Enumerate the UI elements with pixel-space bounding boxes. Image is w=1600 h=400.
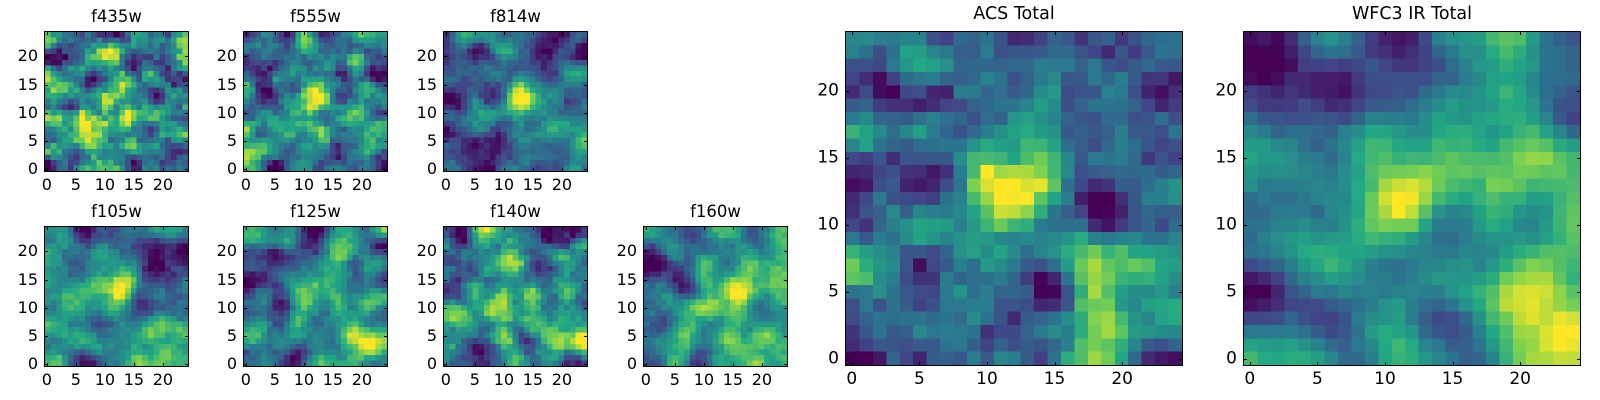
heatmap-canvas-f435w bbox=[45, 32, 188, 171]
ytick-f125w-1 bbox=[243, 336, 247, 337]
xticklabel-f140w-1: 5 bbox=[470, 372, 480, 388]
ytick-right-f105w-3 bbox=[185, 280, 189, 281]
panel-title-f555w: f555w bbox=[243, 9, 388, 26]
xtick-f105w-4 bbox=[163, 363, 164, 367]
panel-f105w: f105w0510152005101520 bbox=[44, 226, 189, 367]
xtick-acs-total-4 bbox=[1122, 362, 1123, 366]
ytick-f814w-2 bbox=[443, 113, 447, 114]
yticklabel-f435w-4: 20 bbox=[18, 48, 38, 64]
xtick-top-wfc3-ir-total-0 bbox=[1250, 31, 1251, 35]
ytick-f125w-0 bbox=[243, 364, 247, 365]
xticklabel-f555w-1: 5 bbox=[270, 177, 280, 193]
xticklabel-f140w-4: 20 bbox=[552, 372, 572, 388]
xticklabel-f555w-0: 0 bbox=[241, 177, 251, 193]
xticklabel-acs-total-0: 0 bbox=[846, 371, 857, 388]
ytick-right-wfc3-ir-total-4 bbox=[1577, 91, 1581, 92]
ytick-f160w-0 bbox=[643, 364, 647, 365]
panel-title-f160w: f160w bbox=[643, 204, 788, 221]
heatmap-image-f555w bbox=[243, 31, 388, 172]
xticklabel-f140w-3: 15 bbox=[523, 372, 543, 388]
ytick-right-wfc3-ir-total-0 bbox=[1577, 359, 1581, 360]
xticklabel-wfc3-ir-total-1: 5 bbox=[1312, 371, 1323, 388]
xtick-wfc3-ir-total-4 bbox=[1520, 362, 1521, 366]
ytick-wfc3-ir-total-4 bbox=[1243, 91, 1247, 92]
ytick-f555w-0 bbox=[243, 169, 247, 170]
xticklabel-f160w-1: 5 bbox=[670, 372, 680, 388]
xtick-top-f105w-1 bbox=[76, 226, 77, 230]
ytick-right-f814w-0 bbox=[584, 169, 588, 170]
yticklabel-f160w-4: 20 bbox=[617, 243, 637, 259]
xticklabel-f160w-2: 10 bbox=[694, 372, 714, 388]
yticklabel-f814w-0: 0 bbox=[427, 161, 437, 177]
panel-title-f125w: f125w bbox=[243, 204, 388, 221]
xtick-top-f125w-1 bbox=[275, 226, 276, 230]
xtick-f140w-2 bbox=[504, 363, 505, 367]
yticklabel-f125w-1: 5 bbox=[227, 328, 237, 344]
xtick-top-wfc3-ir-total-3 bbox=[1453, 31, 1454, 35]
ytick-right-f125w-4 bbox=[384, 251, 388, 252]
yticklabel-f105w-0: 0 bbox=[28, 356, 38, 372]
panel-f140w: f140w0510152005101520 bbox=[443, 226, 588, 367]
panel-title-acs-total: ACS Total bbox=[845, 6, 1183, 24]
ytick-f140w-1 bbox=[443, 336, 447, 337]
xticklabel-f555w-3: 15 bbox=[323, 177, 343, 193]
ytick-right-f555w-4 bbox=[384, 56, 388, 57]
yticklabel-acs-total-2: 10 bbox=[817, 217, 839, 234]
ytick-right-f140w-4 bbox=[584, 251, 588, 252]
ytick-right-acs-total-4 bbox=[1179, 91, 1183, 92]
ytick-f140w-4 bbox=[443, 251, 447, 252]
ytick-right-f105w-1 bbox=[185, 336, 189, 337]
ytick-f125w-3 bbox=[243, 280, 247, 281]
xtick-f160w-4 bbox=[762, 363, 763, 367]
yticklabel-f435w-2: 10 bbox=[18, 105, 38, 121]
xtick-top-f140w-0 bbox=[446, 226, 447, 230]
ytick-right-f814w-2 bbox=[584, 113, 588, 114]
xtick-top-f814w-3 bbox=[533, 31, 534, 35]
xtick-acs-total-0 bbox=[852, 362, 853, 366]
ytick-f814w-1 bbox=[443, 141, 447, 142]
figure-canvas: f435w0510152005101520f555w05101520051015… bbox=[0, 0, 1600, 400]
ytick-wfc3-ir-total-3 bbox=[1243, 158, 1247, 159]
ytick-f105w-4 bbox=[44, 251, 48, 252]
heatmap-canvas-f105w bbox=[45, 227, 188, 366]
xtick-top-wfc3-ir-total-2 bbox=[1385, 31, 1386, 35]
xtick-top-f160w-3 bbox=[733, 226, 734, 230]
xticklabel-f105w-4: 20 bbox=[153, 372, 173, 388]
xticklabel-f125w-0: 0 bbox=[241, 372, 251, 388]
heatmap-image-f125w bbox=[243, 226, 388, 367]
ytick-wfc3-ir-total-1 bbox=[1243, 292, 1247, 293]
xtick-f555w-1 bbox=[275, 168, 276, 172]
heatmap-canvas-f160w bbox=[644, 227, 787, 366]
ytick-right-wfc3-ir-total-2 bbox=[1577, 225, 1581, 226]
ytick-right-f125w-0 bbox=[384, 364, 388, 365]
heatmap-canvas-f125w bbox=[244, 227, 387, 366]
ytick-right-f105w-4 bbox=[185, 251, 189, 252]
xtick-top-f105w-4 bbox=[163, 226, 164, 230]
ytick-right-wfc3-ir-total-1 bbox=[1577, 292, 1581, 293]
ytick-right-f814w-3 bbox=[584, 85, 588, 86]
yticklabel-f435w-0: 0 bbox=[28, 161, 38, 177]
xtick-f105w-3 bbox=[134, 363, 135, 367]
xtick-top-f555w-2 bbox=[304, 31, 305, 35]
ytick-right-f435w-0 bbox=[185, 169, 189, 170]
xticklabel-f435w-0: 0 bbox=[42, 177, 52, 193]
ytick-f555w-4 bbox=[243, 56, 247, 57]
xtick-top-acs-total-4 bbox=[1122, 31, 1123, 35]
xticklabel-f814w-1: 5 bbox=[470, 177, 480, 193]
xtick-top-f105w-2 bbox=[105, 226, 106, 230]
ytick-right-f160w-0 bbox=[784, 364, 788, 365]
ytick-right-f140w-1 bbox=[584, 336, 588, 337]
yticklabel-f105w-1: 5 bbox=[28, 328, 38, 344]
xticklabel-f140w-0: 0 bbox=[441, 372, 451, 388]
xtick-f140w-1 bbox=[475, 363, 476, 367]
yticklabel-wfc3-ir-total-1: 5 bbox=[1226, 284, 1237, 301]
xtick-f555w-3 bbox=[333, 168, 334, 172]
xtick-f125w-2 bbox=[304, 363, 305, 367]
heatmap-canvas-f814w bbox=[444, 32, 587, 171]
ytick-f435w-2 bbox=[44, 113, 48, 114]
heatmap-image-acs-total bbox=[845, 31, 1183, 366]
ytick-right-f160w-1 bbox=[784, 336, 788, 337]
ytick-right-f555w-2 bbox=[384, 113, 388, 114]
xticklabel-f105w-2: 10 bbox=[95, 372, 115, 388]
ytick-f105w-0 bbox=[44, 364, 48, 365]
ytick-acs-total-4 bbox=[845, 91, 849, 92]
xticklabel-f160w-4: 20 bbox=[752, 372, 772, 388]
xtick-top-wfc3-ir-total-4 bbox=[1520, 31, 1521, 35]
heatmap-image-f814w bbox=[443, 31, 588, 172]
heatmap-canvas-wfc3-ir-total bbox=[1244, 32, 1580, 365]
xticklabel-f435w-1: 5 bbox=[71, 177, 81, 193]
xtick-top-f140w-1 bbox=[475, 226, 476, 230]
panel-wfc3-ir-total: WFC3 IR Total0510152005101520 bbox=[1243, 31, 1581, 366]
ytick-f435w-0 bbox=[44, 169, 48, 170]
panel-acs-total: ACS Total0510152005101520 bbox=[845, 31, 1183, 366]
ytick-acs-total-0 bbox=[845, 359, 849, 360]
xtick-f105w-1 bbox=[76, 363, 77, 367]
xtick-wfc3-ir-total-0 bbox=[1250, 362, 1251, 366]
ytick-right-f814w-4 bbox=[584, 56, 588, 57]
yticklabel-f555w-2: 10 bbox=[217, 105, 237, 121]
yticklabel-wfc3-ir-total-3: 15 bbox=[1215, 150, 1237, 167]
xtick-top-f435w-3 bbox=[134, 31, 135, 35]
xticklabel-f125w-1: 5 bbox=[270, 372, 280, 388]
yticklabel-f555w-0: 0 bbox=[227, 161, 237, 177]
xtick-f814w-2 bbox=[504, 168, 505, 172]
xtick-wfc3-ir-total-3 bbox=[1453, 362, 1454, 366]
xtick-f555w-4 bbox=[362, 168, 363, 172]
xticklabel-f105w-3: 15 bbox=[124, 372, 144, 388]
xtick-top-acs-total-2 bbox=[987, 31, 988, 35]
heatmap-image-f140w bbox=[443, 226, 588, 367]
ytick-right-f555w-0 bbox=[384, 169, 388, 170]
yticklabel-f140w-3: 15 bbox=[417, 272, 437, 288]
ytick-right-wfc3-ir-total-3 bbox=[1577, 158, 1581, 159]
xtick-acs-total-3 bbox=[1055, 362, 1056, 366]
xticklabel-wfc3-ir-total-4: 20 bbox=[1509, 371, 1531, 388]
heatmap-canvas-f555w bbox=[244, 32, 387, 171]
xtick-f435w-4 bbox=[163, 168, 164, 172]
panel-f814w: f814w0510152005101520 bbox=[443, 31, 588, 172]
xtick-top-f160w-1 bbox=[675, 226, 676, 230]
xtick-top-f555w-3 bbox=[333, 31, 334, 35]
panel-f435w: f435w0510152005101520 bbox=[44, 31, 189, 172]
xtick-top-f160w-4 bbox=[762, 226, 763, 230]
xtick-top-f555w-4 bbox=[362, 31, 363, 35]
ytick-f160w-2 bbox=[643, 308, 647, 309]
xtick-top-f105w-0 bbox=[47, 226, 48, 230]
ytick-f435w-3 bbox=[44, 85, 48, 86]
xticklabel-f125w-3: 15 bbox=[323, 372, 343, 388]
panel-title-wfc3-ir-total: WFC3 IR Total bbox=[1243, 6, 1581, 24]
ytick-acs-total-1 bbox=[845, 292, 849, 293]
xticklabel-f435w-3: 15 bbox=[124, 177, 144, 193]
xtick-top-f105w-3 bbox=[134, 226, 135, 230]
xtick-top-f435w-2 bbox=[105, 31, 106, 35]
yticklabel-f555w-3: 15 bbox=[217, 77, 237, 93]
ytick-right-f435w-2 bbox=[185, 113, 189, 114]
xtick-f160w-1 bbox=[675, 363, 676, 367]
xtick-f814w-4 bbox=[562, 168, 563, 172]
xticklabel-f160w-0: 0 bbox=[641, 372, 651, 388]
xtick-top-f435w-4 bbox=[163, 31, 164, 35]
xtick-top-f140w-2 bbox=[504, 226, 505, 230]
xtick-top-wfc3-ir-total-1 bbox=[1317, 31, 1318, 35]
yticklabel-f140w-2: 10 bbox=[417, 300, 437, 316]
xticklabel-f555w-4: 20 bbox=[352, 177, 372, 193]
yticklabel-f160w-0: 0 bbox=[627, 356, 637, 372]
yticklabel-f125w-4: 20 bbox=[217, 243, 237, 259]
ytick-right-f160w-3 bbox=[784, 280, 788, 281]
ytick-right-f555w-1 bbox=[384, 141, 388, 142]
ytick-acs-total-3 bbox=[845, 158, 849, 159]
ytick-f160w-4 bbox=[643, 251, 647, 252]
xtick-top-f814w-0 bbox=[446, 31, 447, 35]
ytick-f435w-4 bbox=[44, 56, 48, 57]
yticklabel-f160w-1: 5 bbox=[627, 328, 637, 344]
ytick-f125w-2 bbox=[243, 308, 247, 309]
xticklabel-wfc3-ir-total-3: 15 bbox=[1442, 371, 1464, 388]
xtick-f160w-3 bbox=[733, 363, 734, 367]
ytick-wfc3-ir-total-2 bbox=[1243, 225, 1247, 226]
yticklabel-f160w-3: 15 bbox=[617, 272, 637, 288]
xticklabel-f435w-4: 20 bbox=[153, 177, 173, 193]
panel-title-f105w: f105w bbox=[44, 204, 189, 221]
xtick-top-f555w-1 bbox=[275, 31, 276, 35]
ytick-f105w-2 bbox=[44, 308, 48, 309]
xticklabel-acs-total-2: 10 bbox=[976, 371, 998, 388]
heatmap-image-f105w bbox=[44, 226, 189, 367]
ytick-f555w-3 bbox=[243, 85, 247, 86]
ytick-right-f125w-2 bbox=[384, 308, 388, 309]
xticklabel-f140w-2: 10 bbox=[494, 372, 514, 388]
ytick-right-f814w-1 bbox=[584, 141, 588, 142]
yticklabel-f160w-2: 10 bbox=[617, 300, 637, 316]
xticklabel-f814w-0: 0 bbox=[441, 177, 451, 193]
ytick-right-f140w-2 bbox=[584, 308, 588, 309]
ytick-right-f125w-3 bbox=[384, 280, 388, 281]
xticklabel-f814w-4: 20 bbox=[552, 177, 572, 193]
ytick-right-f105w-2 bbox=[185, 308, 189, 309]
xtick-acs-total-2 bbox=[987, 362, 988, 366]
xticklabel-f125w-4: 20 bbox=[352, 372, 372, 388]
yticklabel-f105w-4: 20 bbox=[18, 243, 38, 259]
xticklabel-acs-total-4: 20 bbox=[1111, 371, 1133, 388]
ytick-f140w-2 bbox=[443, 308, 447, 309]
yticklabel-f814w-1: 5 bbox=[427, 133, 437, 149]
xtick-f435w-2 bbox=[105, 168, 106, 172]
xtick-f140w-4 bbox=[562, 363, 563, 367]
yticklabel-acs-total-0: 0 bbox=[828, 351, 839, 368]
xtick-top-acs-total-1 bbox=[919, 31, 920, 35]
xtick-acs-total-1 bbox=[919, 362, 920, 366]
yticklabel-f140w-1: 5 bbox=[427, 328, 437, 344]
xtick-f555w-2 bbox=[304, 168, 305, 172]
xtick-f125w-4 bbox=[362, 363, 363, 367]
ytick-right-acs-total-2 bbox=[1179, 225, 1183, 226]
xtick-f814w-1 bbox=[475, 168, 476, 172]
ytick-right-acs-total-1 bbox=[1179, 292, 1183, 293]
xtick-wfc3-ir-total-1 bbox=[1317, 362, 1318, 366]
xtick-top-f814w-2 bbox=[504, 31, 505, 35]
yticklabel-f125w-3: 15 bbox=[217, 272, 237, 288]
ytick-f435w-1 bbox=[44, 141, 48, 142]
xtick-top-f555w-0 bbox=[246, 31, 247, 35]
ytick-f160w-3 bbox=[643, 280, 647, 281]
xtick-top-f814w-4 bbox=[562, 31, 563, 35]
yticklabel-f435w-1: 5 bbox=[28, 133, 38, 149]
xticklabel-f105w-0: 0 bbox=[42, 372, 52, 388]
heatmap-image-f160w bbox=[643, 226, 788, 367]
yticklabel-wfc3-ir-total-2: 10 bbox=[1215, 217, 1237, 234]
heatmap-canvas-f140w bbox=[444, 227, 587, 366]
xticklabel-f435w-2: 10 bbox=[95, 177, 115, 193]
yticklabel-wfc3-ir-total-4: 20 bbox=[1215, 83, 1237, 100]
ytick-right-f125w-1 bbox=[384, 336, 388, 337]
xtick-f435w-3 bbox=[134, 168, 135, 172]
ytick-right-f105w-0 bbox=[185, 364, 189, 365]
yticklabel-acs-total-1: 5 bbox=[828, 284, 839, 301]
xticklabel-f555w-2: 10 bbox=[294, 177, 314, 193]
yticklabel-f555w-1: 5 bbox=[227, 133, 237, 149]
ytick-right-f435w-4 bbox=[185, 56, 189, 57]
yticklabel-f105w-2: 10 bbox=[18, 300, 38, 316]
yticklabel-f814w-3: 15 bbox=[417, 77, 437, 93]
xtick-f105w-2 bbox=[105, 363, 106, 367]
ytick-f160w-1 bbox=[643, 336, 647, 337]
xtick-top-f125w-3 bbox=[333, 226, 334, 230]
panel-title-f435w: f435w bbox=[44, 9, 189, 26]
yticklabel-wfc3-ir-total-0: 0 bbox=[1226, 351, 1237, 368]
ytick-f105w-3 bbox=[44, 280, 48, 281]
xtick-f125w-3 bbox=[333, 363, 334, 367]
ytick-wfc3-ir-total-0 bbox=[1243, 359, 1247, 360]
panel-f160w: f160w0510152005101520 bbox=[643, 226, 788, 367]
panel-f555w: f555w0510152005101520 bbox=[243, 31, 388, 172]
xtick-f435w-1 bbox=[76, 168, 77, 172]
yticklabel-f125w-2: 10 bbox=[217, 300, 237, 316]
xticklabel-wfc3-ir-total-2: 10 bbox=[1374, 371, 1396, 388]
heatmap-image-f435w bbox=[44, 31, 189, 172]
xtick-top-f140w-3 bbox=[533, 226, 534, 230]
xtick-top-f160w-0 bbox=[646, 226, 647, 230]
xtick-top-f140w-4 bbox=[562, 226, 563, 230]
ytick-right-acs-total-3 bbox=[1179, 158, 1183, 159]
xticklabel-f814w-3: 15 bbox=[523, 177, 543, 193]
yticklabel-f814w-4: 20 bbox=[417, 48, 437, 64]
ytick-f814w-0 bbox=[443, 169, 447, 170]
ytick-f814w-3 bbox=[443, 85, 447, 86]
xtick-f160w-2 bbox=[704, 363, 705, 367]
panel-title-f814w: f814w bbox=[443, 9, 588, 26]
xtick-top-f160w-2 bbox=[704, 226, 705, 230]
xticklabel-f105w-1: 5 bbox=[71, 372, 81, 388]
xtick-f140w-3 bbox=[533, 363, 534, 367]
xticklabel-f814w-2: 10 bbox=[494, 177, 514, 193]
ytick-f555w-2 bbox=[243, 113, 247, 114]
xticklabel-acs-total-1: 5 bbox=[914, 371, 925, 388]
ytick-right-f435w-1 bbox=[185, 141, 189, 142]
ytick-right-f555w-3 bbox=[384, 85, 388, 86]
ytick-acs-total-2 bbox=[845, 225, 849, 226]
yticklabel-f555w-4: 20 bbox=[217, 48, 237, 64]
ytick-f140w-3 bbox=[443, 280, 447, 281]
ytick-right-acs-total-0 bbox=[1179, 359, 1183, 360]
xtick-top-f435w-0 bbox=[47, 31, 48, 35]
ytick-right-f160w-2 bbox=[784, 308, 788, 309]
xticklabel-wfc3-ir-total-0: 0 bbox=[1244, 371, 1255, 388]
heatmap-canvas-acs-total bbox=[846, 32, 1182, 365]
ytick-right-f160w-4 bbox=[784, 251, 788, 252]
ytick-right-f140w-3 bbox=[584, 280, 588, 281]
xtick-top-f125w-2 bbox=[304, 226, 305, 230]
xtick-wfc3-ir-total-2 bbox=[1385, 362, 1386, 366]
xticklabel-f160w-3: 15 bbox=[723, 372, 743, 388]
ytick-f105w-1 bbox=[44, 336, 48, 337]
xticklabel-acs-total-3: 15 bbox=[1044, 371, 1066, 388]
ytick-right-f435w-3 bbox=[185, 85, 189, 86]
ytick-right-f140w-0 bbox=[584, 364, 588, 365]
panel-title-f140w: f140w bbox=[443, 204, 588, 221]
xtick-top-acs-total-0 bbox=[852, 31, 853, 35]
xtick-top-f814w-1 bbox=[475, 31, 476, 35]
yticklabel-f140w-0: 0 bbox=[427, 356, 437, 372]
yticklabel-f140w-4: 20 bbox=[417, 243, 437, 259]
yticklabel-f125w-0: 0 bbox=[227, 356, 237, 372]
xtick-f814w-3 bbox=[533, 168, 534, 172]
xtick-top-acs-total-3 bbox=[1055, 31, 1056, 35]
yticklabel-f105w-3: 15 bbox=[18, 272, 38, 288]
yticklabel-acs-total-4: 20 bbox=[817, 83, 839, 100]
heatmap-image-wfc3-ir-total bbox=[1243, 31, 1581, 366]
xtick-f125w-1 bbox=[275, 363, 276, 367]
ytick-f555w-1 bbox=[243, 141, 247, 142]
yticklabel-f435w-3: 15 bbox=[18, 77, 38, 93]
xtick-top-f435w-1 bbox=[76, 31, 77, 35]
panel-f125w: f125w0510152005101520 bbox=[243, 226, 388, 367]
xtick-top-f125w-4 bbox=[362, 226, 363, 230]
ytick-f140w-0 bbox=[443, 364, 447, 365]
yticklabel-f814w-2: 10 bbox=[417, 105, 437, 121]
ytick-f125w-4 bbox=[243, 251, 247, 252]
xtick-top-f125w-0 bbox=[246, 226, 247, 230]
ytick-f814w-4 bbox=[443, 56, 447, 57]
yticklabel-acs-total-3: 15 bbox=[817, 150, 839, 167]
xticklabel-f125w-2: 10 bbox=[294, 372, 314, 388]
